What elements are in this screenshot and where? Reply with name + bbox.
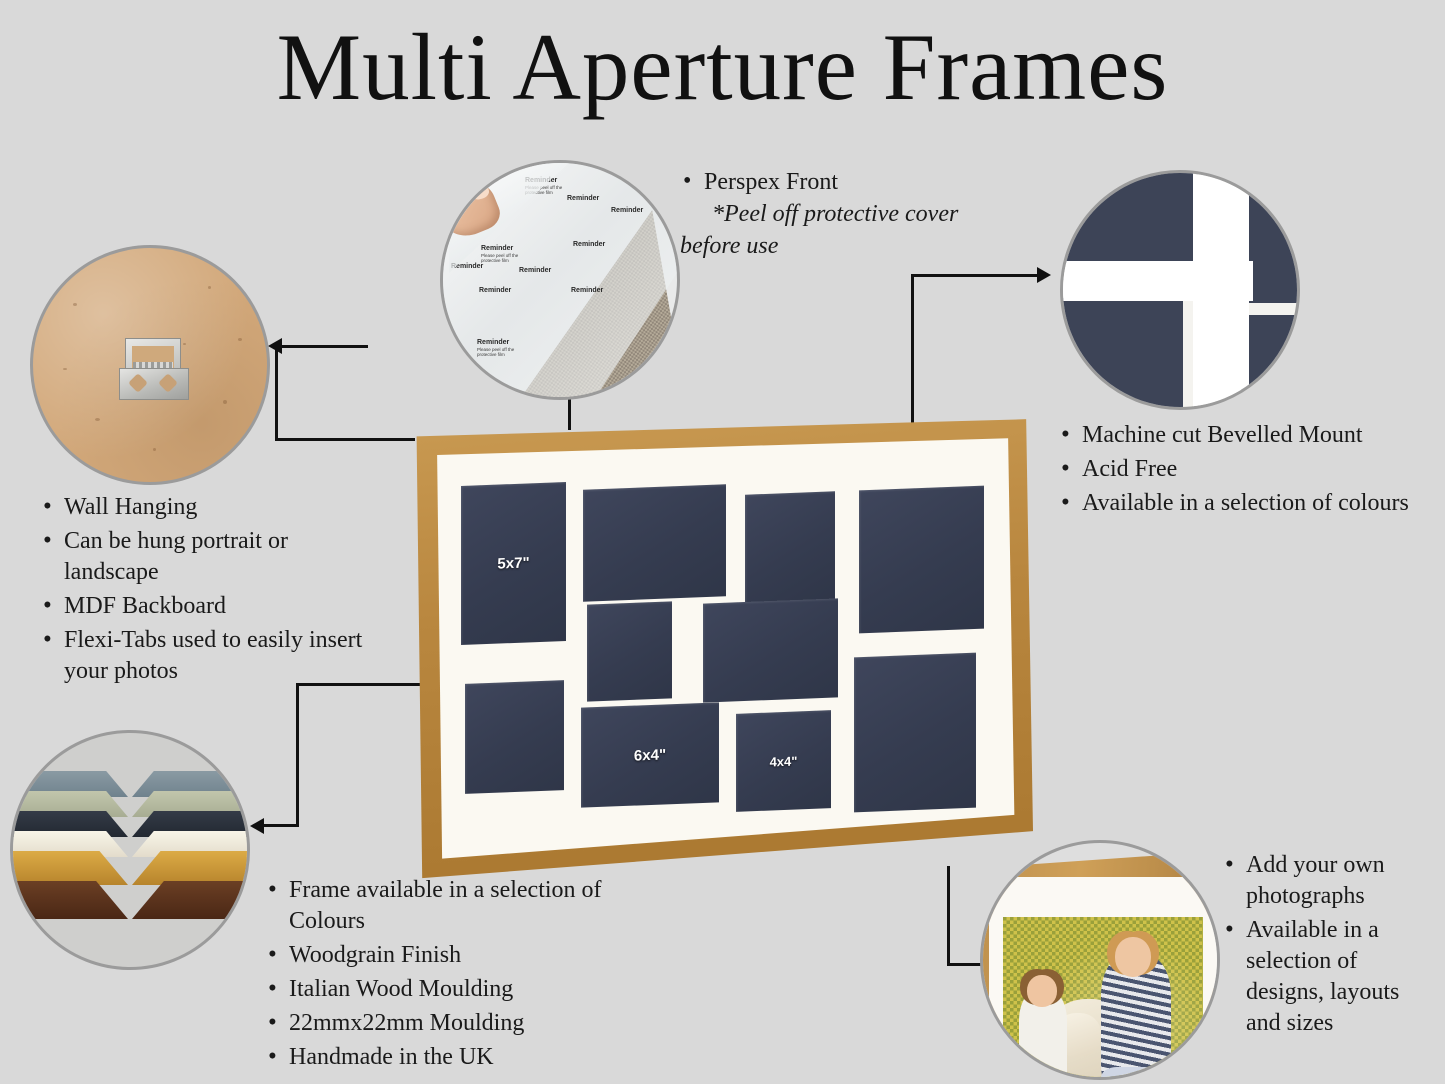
frame-colour-samples xyxy=(10,730,250,970)
list-item: Handmade in the UK xyxy=(265,1042,605,1073)
bevelled-mount-closeup xyxy=(1060,170,1300,410)
film-reminder-text-3: Reminder xyxy=(481,245,513,252)
connector-backboard-horizontal-top xyxy=(280,345,368,348)
connector-backboard-vertical xyxy=(275,347,278,441)
woman-legs xyxy=(1101,1067,1179,1080)
list-item: Can be hung portrait or landscape xyxy=(40,526,370,588)
infographic-canvas: Multi Aperture Frames xyxy=(0,0,1445,1084)
woman-head xyxy=(1115,937,1151,977)
page-title: Multi Aperture Frames xyxy=(0,12,1445,122)
mount-aperture-top-left xyxy=(1060,170,1198,263)
mount-bevel-vertical xyxy=(1193,170,1249,410)
callout-photographs: Add your own photographs Available in a … xyxy=(1222,850,1437,1042)
aperture-4x4-square: 4x4" xyxy=(736,710,831,812)
connector-photo-vertical xyxy=(947,866,950,966)
arrow-to-bevelled-mount xyxy=(1037,267,1051,283)
aperture-6x4-landscape: 6x4" xyxy=(581,702,719,807)
aperture-top-3 xyxy=(745,491,835,604)
mdf-backboard-photo xyxy=(30,245,270,485)
child-head xyxy=(1027,975,1057,1007)
aperture-label-6x4: 6x4" xyxy=(634,746,666,764)
list-item: Italian Wood Moulding xyxy=(265,974,605,1005)
callout-perspex: Perspex Front *Peel off protective cover… xyxy=(680,166,1020,262)
sawtooth-hanger-icon xyxy=(119,338,189,400)
perspex-peel-photo: Reminder Please peel off theprotective f… xyxy=(440,160,680,400)
aperture-right-tall xyxy=(859,486,984,634)
aperture-top-2 xyxy=(583,484,726,601)
aperture-label-5x7: 5x7" xyxy=(497,554,529,572)
perspex-note-line1: *Peel off protective cover xyxy=(680,198,1020,230)
callout-wall-hanging: Wall Hanging Can be hung portrait or lan… xyxy=(40,492,370,690)
film-reminder-text-5: Reminder xyxy=(611,207,643,214)
connector-backboard-horizontal-bottom xyxy=(277,438,415,441)
aperture-bottom-right-tall xyxy=(854,653,976,813)
list-item: Wall Hanging xyxy=(40,492,370,523)
list-item: Acid Free xyxy=(1058,454,1418,485)
callout-bevelled-mount: Machine cut Bevelled Mount Acid Free Ava… xyxy=(1058,420,1418,522)
mount-aperture-bottom-right xyxy=(1241,315,1300,410)
film-reminder-sub-3: Please peel off theprotective film xyxy=(481,253,518,263)
list-item: Frame available in a selection of Colour… xyxy=(265,875,605,937)
list-item: Available in a selection of colours xyxy=(1058,488,1418,519)
family-photo xyxy=(1003,917,1203,1080)
arrow-to-backboard xyxy=(268,338,282,354)
list-item: MDF Backboard xyxy=(40,591,370,622)
aperture-label-4x4: 4x4" xyxy=(770,753,798,769)
list-item: Add your own photographs xyxy=(1222,850,1437,912)
perspex-bullet: Perspex Front xyxy=(680,166,1020,198)
mount-aperture-bottom-left xyxy=(1060,298,1183,410)
list-item: Machine cut Bevelled Mount xyxy=(1058,420,1418,451)
callout-frame-colours: Frame available in a selection of Colour… xyxy=(265,875,605,1076)
connector-bevel-horizontal xyxy=(911,274,1039,277)
film-reminder-text-4: Reminder xyxy=(573,241,605,248)
film-reminder-text-8: Reminder xyxy=(571,287,603,294)
list-item: Woodgrain Finish xyxy=(265,940,605,971)
film-reminder-text-6: Reminder xyxy=(519,267,551,274)
arrow-to-colours xyxy=(250,818,264,834)
swatch-dark-brown xyxy=(10,881,250,919)
aperture-bottom-left xyxy=(465,680,564,794)
perspex-note-line2: before use xyxy=(680,230,1020,262)
film-reminder-text-2: Reminder xyxy=(567,195,599,202)
connector-colours-horizontal-bottom xyxy=(262,824,299,827)
film-reminder-text-9: Reminder xyxy=(477,339,509,346)
list-item: Flexi-Tabs used to easily insert your ph… xyxy=(40,625,370,687)
aperture-5x7-portrait: 5x7" xyxy=(461,482,566,645)
connector-bevel-vertical xyxy=(911,275,914,435)
list-item: 22mmx22mm Moulding xyxy=(265,1008,605,1039)
multi-aperture-frame: 5x7" 6x4" 4x4" xyxy=(411,415,1033,880)
aperture-mid-2 xyxy=(703,598,838,702)
aperture-mid-1 xyxy=(587,601,672,701)
mount-aperture-top-right xyxy=(1248,183,1300,303)
connector-colours-vertical xyxy=(296,683,299,826)
film-reminder-text-7: Reminder xyxy=(479,287,511,294)
list-item: Available in a selection of designs, lay… xyxy=(1222,915,1437,1039)
swatch-gold-oak xyxy=(10,851,250,885)
film-reminder-sub-9: Please peel off theprotective film xyxy=(477,347,514,357)
